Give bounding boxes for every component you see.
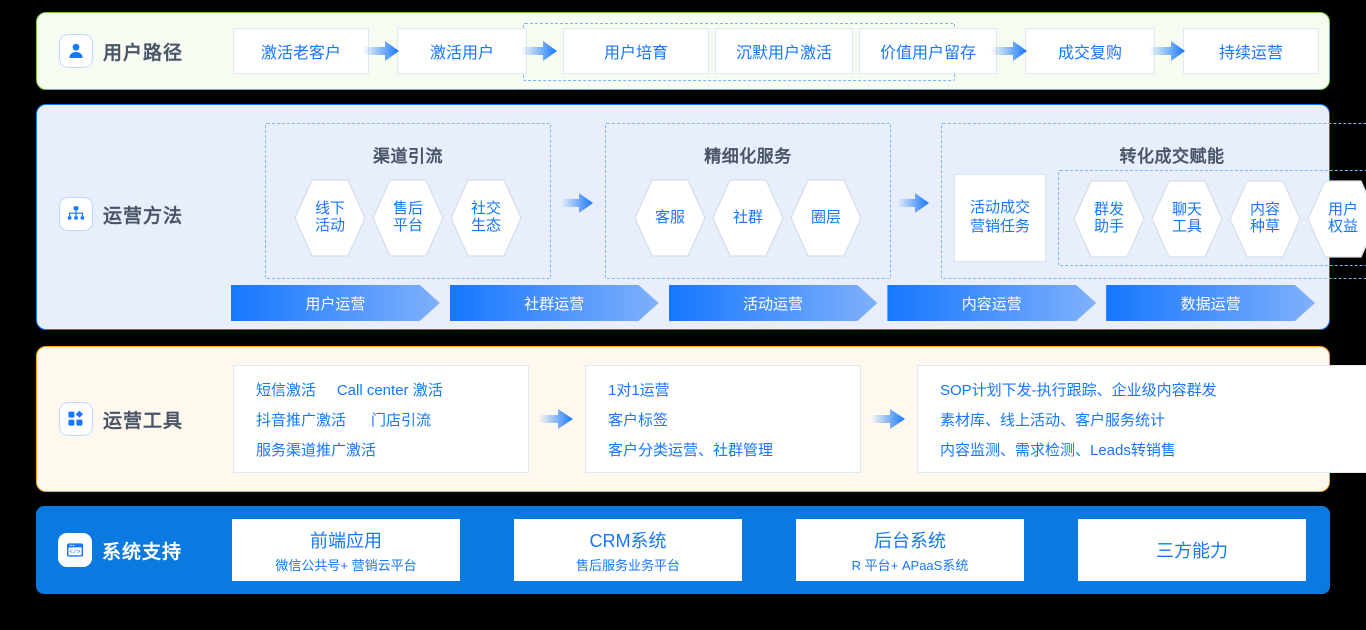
path-step-2[interactable]: 激活用户: [397, 28, 527, 74]
row-system-support: </> 系统支持 前端应用 微信公共号+ 营销云平台 CRM系统 售后服务业务平…: [36, 506, 1330, 594]
path-step-3[interactable]: 用户培育: [563, 28, 709, 74]
path-step-7[interactable]: 持续运营: [1183, 28, 1319, 74]
hex-row: 客服 社群 圈层: [606, 178, 890, 258]
arrow-icon: [363, 40, 403, 62]
hex-node[interactable]: 用户 权益: [1307, 179, 1366, 259]
row-label-system-support: </> 系统支持: [36, 533, 232, 567]
group-title: 精细化服务: [606, 142, 890, 167]
path-step-1[interactable]: 激活老客户: [233, 28, 369, 74]
row-operation-method: 运营方法 渠道引流 线下 活动 售后 平台 社交 生态: [36, 104, 1330, 330]
system-box-thirdparty[interactable]: 三方能力: [1078, 519, 1306, 581]
row-title: 系统支持: [102, 537, 182, 564]
user-icon: [59, 34, 93, 68]
hex-node[interactable]: 圈层: [790, 178, 862, 258]
row-title: 运营方法: [103, 201, 183, 228]
tool-line: 1对1运营: [608, 379, 838, 400]
tool-line: SOP计划下发-执行跟踪、企业级内容群发: [940, 379, 1350, 400]
hex-node[interactable]: 线下 活动: [294, 178, 366, 258]
row-title: 运营工具: [103, 406, 183, 433]
tool-line: 客户分类运营、社群管理: [608, 439, 838, 460]
tool-line: 抖音推广激活 门店引流: [256, 409, 506, 430]
system-box-sub: 微信公共号+ 营销云平台: [275, 555, 416, 574]
row-user-path: 用户路径 激活老客户 激活用户 用户培育 沉默用户激活 价值用户留存: [36, 12, 1330, 90]
system-box-title: 三方能力: [1156, 537, 1228, 563]
org-chart-icon: [59, 197, 93, 231]
system-box-title: CRM系统: [590, 527, 667, 553]
user-path-track: 激活老客户 激活用户 用户培育 沉默用户激活 价值用户留存: [233, 13, 1329, 89]
tool-line: 短信激活 Call center 激活: [256, 379, 506, 400]
method-group-service: 精细化服务 客服 社群 圈层: [605, 123, 891, 279]
arrow-icon: [521, 40, 561, 62]
chevron-content-ops[interactable]: 内容运营: [887, 285, 1096, 321]
tools-area: 短信激活 Call center 激活 抖音推广激活 门店引流 服务渠道推广激活…: [233, 347, 1366, 491]
operation-chevron-strip: 用户运营 社群运营 活动运营 内容运营 数据运营: [231, 285, 1315, 321]
activity-task-box[interactable]: 活动成交 营销任务: [954, 174, 1046, 262]
apps-grid-icon: [59, 402, 93, 436]
hex-node[interactable]: 社交 生态: [450, 178, 522, 258]
chevron-activity-ops[interactable]: 活动运营: [669, 285, 878, 321]
tool-box-fine-ops[interactable]: 1对1运营 客户标签 客户分类运营、社群管理: [585, 365, 861, 473]
arrow-icon: [897, 193, 931, 213]
system-box-title: 后台系统: [874, 527, 946, 553]
system-box-sub: R 平台+ APaaS系统: [852, 555, 969, 574]
group-title: 渠道引流: [266, 142, 550, 167]
system-box-frontend[interactable]: 前端应用 微信公共号+ 营销云平台: [232, 519, 460, 581]
group-title: 转化成交赋能: [942, 142, 1366, 167]
system-boxes: 前端应用 微信公共号+ 营销云平台 CRM系统 售后服务业务平台 后台系统 R …: [232, 506, 1330, 594]
arrow-icon: [1149, 40, 1189, 62]
system-box-title: 前端应用: [310, 527, 382, 553]
system-box-backend[interactable]: 后台系统 R 平台+ APaaS系统: [796, 519, 1024, 581]
path-step-5[interactable]: 价值用户留存: [859, 28, 997, 74]
code-window-icon: </>: [58, 533, 92, 567]
diagram-canvas: 用户路径 激活老客户 激活用户 用户培育 沉默用户激活 价值用户留存: [0, 0, 1366, 630]
row-label-user-path: 用户路径: [37, 34, 233, 68]
arrow-icon: [539, 408, 575, 430]
system-box-sub: 售后服务业务平台: [576, 555, 680, 574]
method-group-conversion: 转化成交赋能 活动成交 营销任务 群发 助手 聊天 工具: [941, 123, 1366, 279]
method-group-channel: 渠道引流 线下 活动 售后 平台 社交 生态: [265, 123, 551, 279]
system-box-crm[interactable]: CRM系统 售后服务业务平台: [514, 519, 742, 581]
hex-node[interactable]: 群发 助手: [1073, 179, 1145, 259]
tool-line: 客户标签: [608, 409, 838, 430]
hex-node[interactable]: 售后 平台: [372, 178, 444, 258]
tool-line: 内容监测、需求检测、Leads转销售: [940, 439, 1350, 460]
hex-row: 群发 助手 聊天 工具 内容 种草 用户 权益: [1059, 179, 1366, 259]
tool-line: 素材库、线上活动、客户服务统计: [940, 409, 1350, 430]
arrow-icon: [561, 193, 595, 213]
chevron-user-ops[interactable]: 用户运营: [231, 285, 440, 321]
hex-node[interactable]: 内容 种草: [1229, 179, 1301, 259]
row-operation-tools: 运营工具 短信激活 Call center 激活 抖音推广激活 门店引流 服务渠…: [36, 346, 1330, 492]
path-step-4[interactable]: 沉默用户激活: [715, 28, 853, 74]
arrow-icon: [991, 40, 1031, 62]
row-label-operation-tools: 运营工具: [37, 402, 233, 436]
path-step-6[interactable]: 成交复购: [1025, 28, 1155, 74]
tool-box-activation[interactable]: 短信激活 Call center 激活 抖音推广激活 门店引流 服务渠道推广激活: [233, 365, 529, 473]
svg-text:</>: </>: [69, 549, 80, 556]
row-title: 用户路径: [103, 38, 183, 65]
hex-row: 线下 活动 售后 平台 社交 生态: [266, 178, 550, 258]
row-label-operation-method: 运营方法: [37, 197, 233, 231]
hex-node[interactable]: 客服: [634, 178, 706, 258]
hex-node[interactable]: 社群: [712, 178, 784, 258]
chevron-data-ops[interactable]: 数据运营: [1106, 285, 1315, 321]
tool-line: 服务渠道推广激活: [256, 439, 506, 460]
tool-box-sop[interactable]: SOP计划下发-执行跟踪、企业级内容群发 素材库、线上活动、客户服务统计 内容监…: [917, 365, 1366, 473]
arrow-icon: [871, 408, 907, 430]
conversion-inner-group: 群发 助手 聊天 工具 内容 种草 用户 权益: [1058, 170, 1366, 266]
hex-node[interactable]: 聊天 工具: [1151, 179, 1223, 259]
chevron-community-ops[interactable]: 社群运营: [450, 285, 659, 321]
